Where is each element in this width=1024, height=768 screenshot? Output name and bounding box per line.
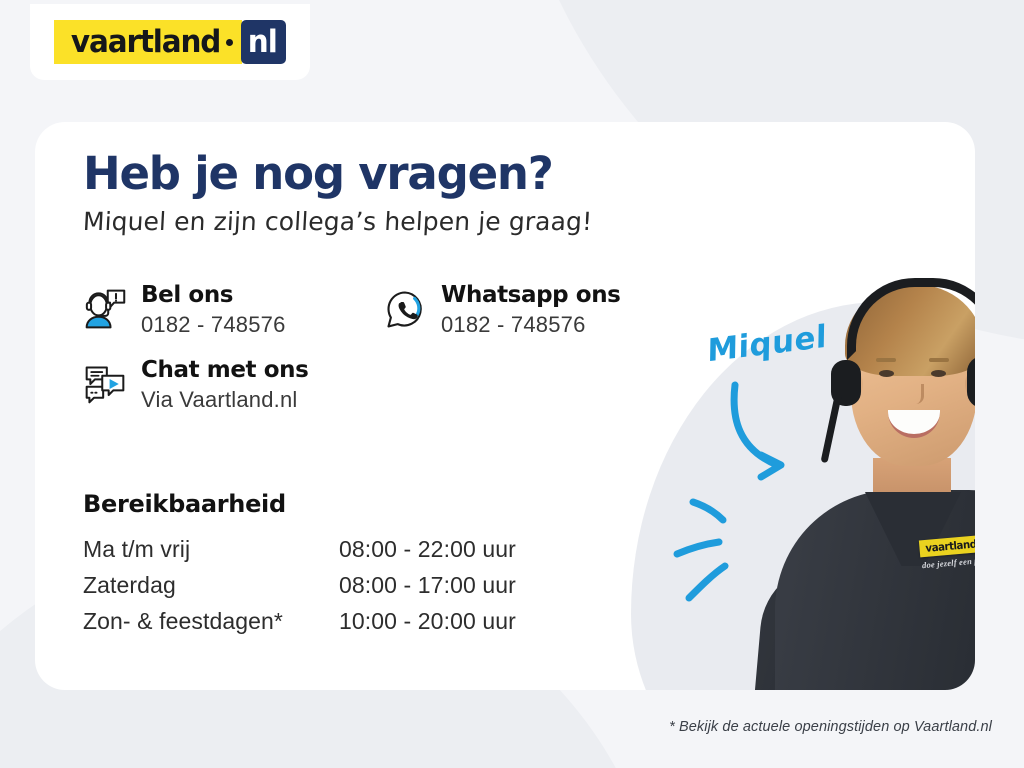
availability-time: 08:00 - 22:00 uur [339,536,516,563]
curved-arrow-icon [725,377,855,487]
contact-method-call[interactable]: Bel ons 0182 - 748576 [83,282,383,339]
whatsapp-icon [383,286,427,332]
availability-time: 08:00 - 17:00 uur [339,572,516,599]
availability-day: Zaterdag [83,572,339,599]
logo-lockup: vaartland nl [54,20,287,64]
availability-section: Bereikbaarheid Ma t/m vrij 08:00 - 22:00… [83,490,603,644]
logo-tld: nl [248,27,277,58]
availability-title: Bereikbaarheid [83,490,603,518]
logo-separator-dot [226,39,233,46]
availability-day: Ma t/m vrij [83,536,339,563]
chat-bubbles-icon [83,361,127,407]
shirt-logo-patch: vaartland nl doe jezelf een plezier [919,534,975,571]
contact-value: 0182 - 748576 [141,312,286,338]
agent-eye-left [879,370,894,377]
contact-title: Bel ons [141,282,286,308]
poster-canvas: vaartland nl Heb je nog vragen? Miquel e… [0,0,1024,768]
availability-row: Ma t/m vrij 08:00 - 22:00 uur [83,536,603,563]
shirt-logo-wordmark: vaartland [925,539,975,554]
footnote: * Bekijk de actuele openingstijden op Va… [669,719,992,735]
contact-title: Chat met ons [141,357,308,383]
availability-row: Zaterdag 08:00 - 17:00 uur [83,572,603,599]
page-subtitle: Miquel en zijn collega’s helpen je graag… [82,207,684,236]
sparkle-lines-icon [671,490,791,620]
brand-logo[interactable]: vaartland nl [30,4,310,80]
contact-value: Via Vaartland.nl [141,387,308,413]
logo-navy-block: nl [241,20,287,64]
agent-nose [907,384,924,404]
logo-wordmark: vaartland [70,27,219,58]
card-heading-block: Heb je nog vragen? Miquel en zijn colleg… [83,150,683,236]
headset-headband-icon [847,278,975,360]
logo-yellow-block: vaartland [54,20,242,64]
availability-row: Zon- & feestdagen* 10:00 - 20:00 uur [83,608,603,635]
page-title: Heb je nog vragen? [83,150,683,197]
contact-value: 0182 - 748576 [441,312,620,338]
contact-title: Whatsapp ons [441,282,620,308]
agent-eye-right [931,370,946,377]
headset-support-icon [83,286,127,332]
contact-card: Heb je nog vragen? Miquel en zijn colleg… [35,122,975,690]
contact-method-chat[interactable]: Chat met ons Via Vaartland.nl [83,357,383,414]
contact-method-whatsapp[interactable]: Whatsapp ons 0182 - 748576 [383,282,683,339]
availability-day: Zon- & feestdagen* [83,608,339,635]
availability-time: 10:00 - 20:00 uur [339,608,516,635]
contact-methods: Bel ons 0182 - 748576 Whatsapp ons [83,282,703,432]
